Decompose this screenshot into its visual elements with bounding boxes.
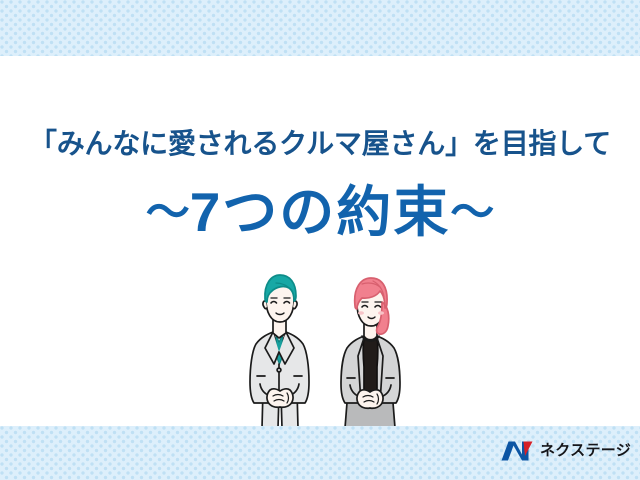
headline-secondary-text: 7つの約束 (190, 181, 451, 243)
female-figure (341, 278, 400, 428)
headline-primary: 「みんなに愛されるクルマ屋さん」を目指して (0, 125, 640, 163)
top-dotted-band (0, 0, 640, 56)
staff-illustration (243, 272, 413, 430)
nextage-n-mark (500, 440, 534, 462)
tilde-left: ～ (146, 188, 190, 237)
male-figure (250, 275, 309, 428)
tilde-right: ～ (450, 188, 494, 237)
brand-logo: ネクステージ (500, 438, 631, 464)
brand-logo-text: ネクステージ (540, 440, 631, 462)
headline-secondary: ～7つの約束～ (0, 178, 640, 251)
promo-banner: 「みんなに愛されるクルマ屋さん」を目指して ～7つの約束～ (0, 0, 640, 480)
